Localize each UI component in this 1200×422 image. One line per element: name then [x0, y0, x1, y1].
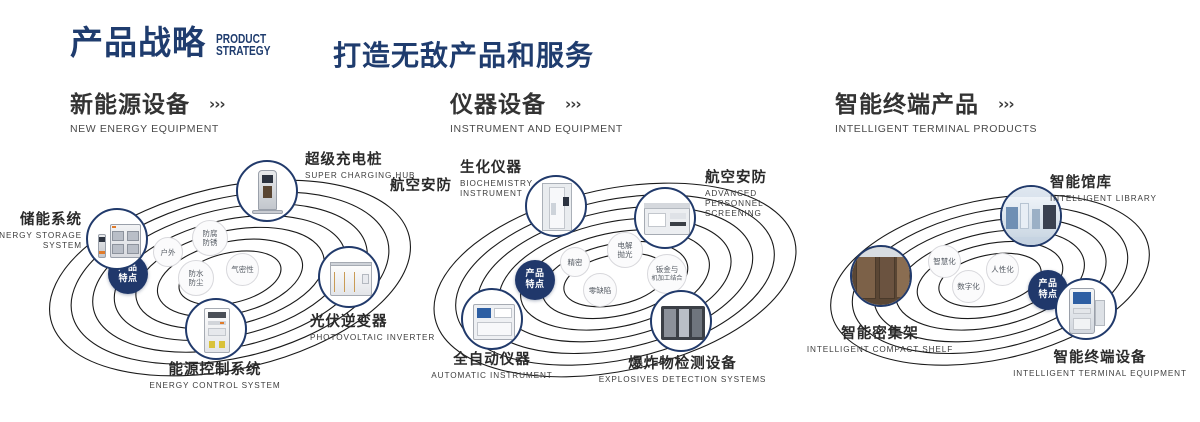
product-label-cn: 生化仪器 [460, 160, 556, 177]
feature-bubble-line1: 零缺陷 [589, 286, 612, 295]
product-label-cn: 智能馆库 [1050, 175, 1157, 192]
explosives-detector-icon [652, 292, 710, 350]
core-bubble-line1: 产品 [525, 269, 544, 280]
product-circle-automatic-instrument[interactable] [461, 288, 523, 350]
inverter-cabinet-icon [320, 248, 378, 306]
cluster-new-energy: 户外 防腐 防锈 防水 防尘 气密性 产品 特点 [30, 150, 430, 410]
product-label-en: INTELLIGENT COMPACT SHELF [790, 345, 970, 355]
product-label-en: INTELLIGENT LIBRARY [1050, 194, 1157, 204]
feature-bubble-line2: 防尘 [189, 278, 204, 287]
feature-bubble-line1: 精密 [568, 258, 583, 267]
product-label-cn: 航空安防 [705, 170, 815, 187]
chevron-right-icon: ››› [209, 96, 225, 113]
cluster-intelligent-terminal: 智慧化 数字化 人性化 产品 特点 智能馆库 INTELLIGENT LIBRA… [800, 150, 1200, 410]
product-label-super-charging-hub: 超级充电桩 SUPER CHARGING HUB [305, 152, 415, 181]
battery-cabinet-icon [88, 210, 146, 268]
product-label-en: ENERGY STORAGE SYSTEM [0, 231, 82, 251]
product-circle-terminal-equipment[interactable] [1055, 278, 1117, 340]
core-bubble-line2: 特点 [1038, 290, 1057, 301]
product-label-automatic-instrument: 全自动仪器 AUTOMATIC INSTRUMENT [407, 352, 577, 381]
terminal-kiosk-icon [1057, 280, 1115, 338]
feature-bubble-line1: 人性化 [991, 265, 1014, 274]
cluster-instrument: 精密 电解 抛光 零缺陷 钣金与 机加工结合 产品 特点 航空安防 [415, 150, 815, 410]
feature-bubble-line2: 抛光 [618, 250, 633, 259]
section-heading-instrument: 仪器设备 ››› INSTRUMENT AND EQUIPMENT [450, 93, 623, 135]
feature-bubble: 零缺陷 [583, 273, 617, 307]
product-label-cn: 超级充电桩 [305, 152, 415, 169]
product-label-en: INTELLIGENT TERMINAL EQUIPMENT [1000, 369, 1200, 379]
product-circle-energy-storage[interactable] [86, 208, 148, 270]
chevron-right-icon: ››› [565, 96, 581, 113]
core-bubble-line2: 特点 [525, 280, 544, 291]
product-label-en: AUTOMATIC INSTRUMENT [407, 371, 577, 381]
feature-bubble-line2: 防锈 [203, 238, 218, 247]
feature-bubble-line1: 气密性 [231, 265, 254, 274]
feature-bubble: 防腐 防锈 [192, 220, 228, 256]
feature-bubble-line1: 防腐 [203, 229, 218, 238]
product-circle-explosives-detection[interactable] [650, 290, 712, 352]
feature-bubble: 气密性 [226, 253, 259, 286]
brand-title-cn: 产品战略 [70, 26, 206, 59]
feature-bubble: 精密 [560, 247, 590, 277]
product-label-biochemistry: 生化仪器 BIOCHEMISTRY INSTRUMENT [460, 160, 556, 199]
product-label-aviation-security-left: 航空安防 [390, 178, 452, 195]
page-headline: 打造无敌产品和服务 [333, 34, 594, 74]
brand-title-en: PRODUCT STRATEGY [216, 33, 270, 57]
core-bubble-product-features: 产品 特点 [515, 260, 555, 300]
core-bubble-line1: 产品 [1038, 279, 1057, 290]
section-heading-cn-text: 智能终端产品 [835, 92, 979, 118]
section-heading-intelligent-terminal: 智能终端产品 ››› INTELLIGENT TERMINAL PRODUCTS [835, 93, 1037, 135]
feature-bubble-line1: 户外 [161, 248, 176, 257]
feature-bubble: 钣金与 机加工结合 [647, 254, 687, 294]
feature-bubble: 户外 [153, 237, 183, 267]
section-heading-en: NEW ENERGY EQUIPMENT [70, 123, 225, 135]
feature-bubble: 人性化 [986, 253, 1019, 286]
section-heading-cn-text: 仪器设备 [450, 92, 546, 118]
product-label-energy-storage: 储能系统 ENERGY STORAGE SYSTEM [0, 212, 82, 251]
feature-bubble: 数字化 [952, 270, 985, 303]
section-heading-en: INSTRUMENT AND EQUIPMENT [450, 123, 623, 135]
product-label-explosives-detection: 爆炸物检测设备 EXPLOSIVES DETECTION SYSTEMS [590, 356, 775, 385]
section-heading-cn-text: 新能源设备 [70, 92, 190, 118]
product-label-energy-control: 能源控制系统 ENERGY CONTROL SYSTEM [85, 362, 345, 391]
product-label-cn: 智能密集架 [790, 326, 970, 343]
product-label-cn: 能源控制系统 [85, 362, 345, 379]
poster-canvas: 产品战略 PRODUCT STRATEGY 打造无敌产品和服务 新能源设备 ››… [0, 0, 1200, 422]
brand-title: 产品战略 PRODUCT STRATEGY [70, 26, 286, 59]
section-heading-cn: 新能源设备 ››› [70, 93, 225, 118]
product-circle-screening-machine[interactable] [634, 187, 696, 249]
compact-shelf-icon [852, 247, 910, 305]
screening-machine-icon [636, 189, 694, 247]
feature-bubble: 智慧化 [928, 245, 961, 278]
section-heading-en: INTELLIGENT TERMINAL PRODUCTS [835, 123, 1037, 135]
section-heading-new-energy: 新能源设备 ››› NEW ENERGY EQUIPMENT [70, 93, 225, 135]
chevron-right-icon: ››› [998, 96, 1014, 113]
product-circle-super-charging-hub[interactable] [236, 160, 298, 222]
feature-bubble-line1: 防水 [189, 269, 204, 278]
feature-bubble-line1: 电解 [618, 241, 633, 250]
feature-bubble-line2: 机加工结合 [652, 274, 683, 283]
product-label-en: EXPLOSIVES DETECTION SYSTEMS [590, 375, 775, 385]
product-label-cn: 爆炸物检测设备 [590, 356, 775, 373]
feature-bubble-line1: 数字化 [957, 282, 980, 291]
product-label-en: BIOCHEMISTRY INSTRUMENT [460, 179, 556, 199]
feature-bubble-line1: 智慧化 [933, 257, 956, 266]
control-cabinet-icon [187, 300, 245, 358]
product-label-cn: 智能终端设备 [1000, 350, 1200, 367]
product-label-cn: 全自动仪器 [407, 352, 577, 369]
product-circle-energy-control[interactable] [185, 298, 247, 360]
product-label-cn: 储能系统 [0, 212, 82, 229]
product-label-terminal-equipment: 智能终端设备 INTELLIGENT TERMINAL EQUIPMENT [1000, 350, 1200, 379]
automatic-instrument-icon [463, 290, 521, 348]
product-label-compact-shelf: 智能密集架 INTELLIGENT COMPACT SHELF [790, 326, 970, 355]
product-circle-compact-shelf[interactable] [850, 245, 912, 307]
product-label-en: ADVANCED PERSONNEL SCREENING [705, 189, 815, 219]
feature-bubble: 防水 防尘 [178, 260, 214, 296]
brand-title-en-line2: STRATEGY [216, 45, 270, 57]
charging-pile-icon [238, 162, 296, 220]
section-heading-cn: 智能终端产品 ››› [835, 93, 1037, 118]
product-label-cn: 航空安防 [390, 178, 452, 195]
product-label-aviation-security-right: 航空安防 ADVANCED PERSONNEL SCREENING [705, 170, 815, 219]
section-heading-cn: 仪器设备 ››› [450, 93, 623, 118]
product-label-intelligent-library: 智能馆库 INTELLIGENT LIBRARY [1050, 175, 1157, 204]
product-circle-photovoltaic-inverter[interactable] [318, 246, 380, 308]
feature-bubble-line1: 钣金与 [656, 265, 679, 274]
core-bubble-line2: 特点 [118, 274, 137, 285]
product-label-en: ENERGY CONTROL SYSTEM [85, 381, 345, 391]
